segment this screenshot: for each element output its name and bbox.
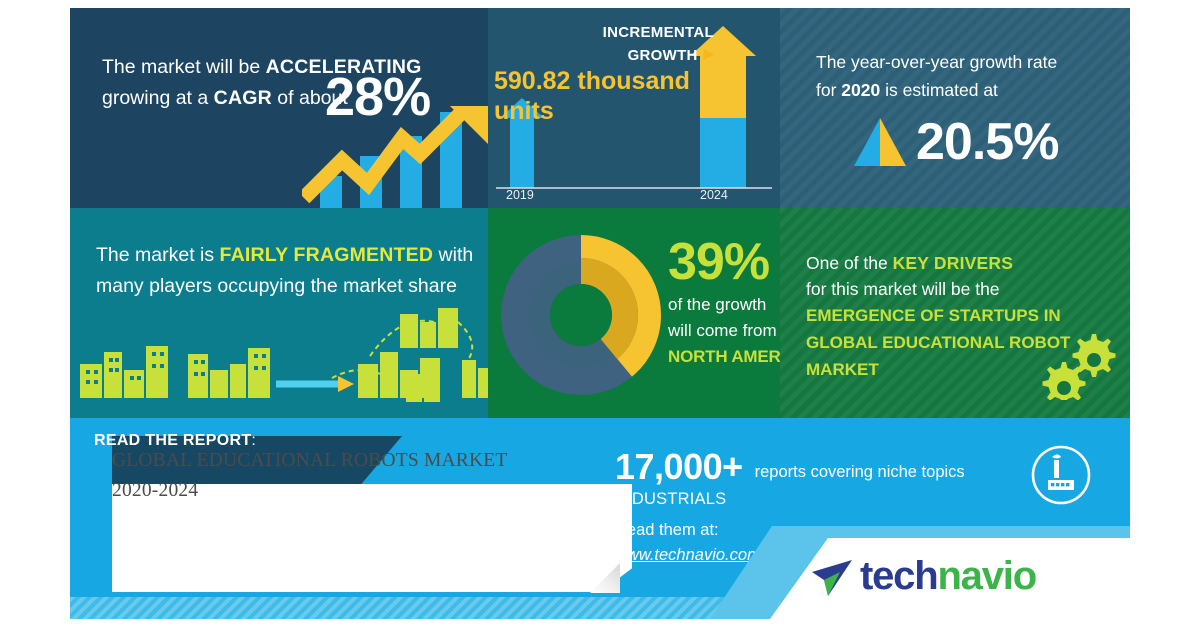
fragmented-statement: The market is FAIRLY FRAGMENTED with man… bbox=[96, 240, 486, 302]
report-title: GLOBAL EDUCATIONAL ROBOTS MARKET 2020-20… bbox=[112, 446, 562, 506]
region-name: NORTH AMERICA bbox=[668, 347, 780, 366]
cagr-bar-chart bbox=[302, 104, 488, 208]
infographic-canvas: The market will be ACCELERATING growing … bbox=[0, 0, 1200, 627]
industry-category: INDUSTRIALS bbox=[615, 490, 1035, 509]
report-title-line1: GLOBAL EDUCATIONAL ROBOTS MARKET bbox=[112, 450, 508, 471]
incremental-growth-value: 590.82 thousand units bbox=[494, 66, 704, 126]
yoy-line1: The year-over-year growth rate bbox=[816, 52, 1057, 72]
panel-fragmented: The market is FAIRLY FRAGMENTED with man… bbox=[70, 208, 488, 418]
technavio-url-link[interactable]: www.technavio.com bbox=[615, 546, 761, 565]
factory-icon bbox=[1030, 444, 1092, 506]
yoy-value: 20.5% bbox=[916, 112, 1058, 172]
cagr-line1-a: The market will be bbox=[102, 56, 266, 78]
growth-arrow-icon bbox=[302, 104, 488, 208]
logo-text-navio: navio bbox=[937, 554, 1035, 598]
panel-key-drivers: One of the KEY DRIVERS for this market w… bbox=[780, 208, 1130, 418]
infographic-body: The market will be ACCELERATING growing … bbox=[70, 8, 1130, 619]
region-share-value: 39% bbox=[668, 232, 769, 292]
row-middle: The market is FAIRLY FRAGMENTED with man… bbox=[70, 208, 1130, 418]
city-buildings-icon bbox=[70, 308, 488, 416]
diagonal-stripe-pattern bbox=[780, 8, 1130, 208]
gears-icon bbox=[1040, 332, 1118, 400]
yoy-line2-a: for bbox=[816, 80, 841, 100]
fragmented-line2: many players occupying the market share bbox=[96, 275, 457, 297]
driver-line2: GLOBAL EDUCATIONAL ROBOT bbox=[806, 333, 1070, 352]
logo-text-tech: tech bbox=[860, 554, 937, 598]
report-title-line2: 2020-2024 bbox=[112, 480, 198, 501]
incremental-axis-label-left: 2019 bbox=[506, 188, 534, 202]
incremental-head-line1: INCREMENTAL bbox=[603, 24, 714, 41]
region-line1: of the growth bbox=[668, 295, 766, 314]
region-share-text: of the growth will come from NORTH AMERI… bbox=[668, 292, 780, 370]
drivers-line1-a: One of the bbox=[806, 253, 893, 273]
triangle-up-icon bbox=[852, 116, 908, 168]
driver-line3: MARKET bbox=[806, 360, 879, 379]
region-line2: will come from bbox=[668, 321, 777, 340]
panel-incremental-growth: INCREMENTAL GROWTH▶ 590.82 thousand unit… bbox=[488, 8, 780, 208]
incremental-axis-label-right: 2024 bbox=[700, 188, 728, 202]
yoy-year: 2020 bbox=[841, 80, 880, 100]
yoy-line2-c: is estimated at bbox=[880, 80, 998, 100]
cagr-line2-a: growing at a bbox=[102, 87, 214, 109]
panel-region-share: 39% of the growth will come from NORTH A… bbox=[488, 208, 780, 418]
play-triangle-icon: ▶ bbox=[704, 43, 714, 64]
fragmented-line1-a: The market is bbox=[96, 244, 220, 266]
cagr-line2-b: CAGR bbox=[214, 87, 272, 109]
fragmented-line1-c: with bbox=[433, 244, 473, 266]
technavio-arrow-icon bbox=[810, 558, 854, 598]
reports-caption: reports covering niche topics bbox=[755, 463, 965, 482]
reports-count: 17,000+ bbox=[615, 446, 743, 488]
footer-banner: READ THE REPORT: GLOBAL EDUCATIONAL ROBO… bbox=[70, 418, 1130, 619]
panel-cagr: The market will be ACCELERATING growing … bbox=[70, 8, 488, 208]
panel-yoy-growth: The year-over-year growth rate for 2020 … bbox=[780, 8, 1130, 208]
donut-chart bbox=[496, 230, 666, 400]
fragmented-line1-b: FAIRLY FRAGMENTED bbox=[220, 244, 434, 266]
yoy-statement: The year-over-year growth rate for 2020 … bbox=[816, 48, 1106, 104]
drivers-line2: for this market will be the bbox=[806, 279, 1000, 299]
driver-line1: EMERGENCE OF STARTUPS IN bbox=[806, 306, 1061, 325]
drivers-line1-b: KEY DRIVERS bbox=[893, 253, 1014, 273]
technavio-logo[interactable]: technavio bbox=[860, 554, 1036, 599]
incremental-growth-heading: INCREMENTAL GROWTH▶ bbox=[514, 22, 714, 66]
incremental-head-line2: GROWTH bbox=[628, 47, 698, 64]
row-top: The market will be ACCELERATING growing … bbox=[70, 8, 1130, 208]
